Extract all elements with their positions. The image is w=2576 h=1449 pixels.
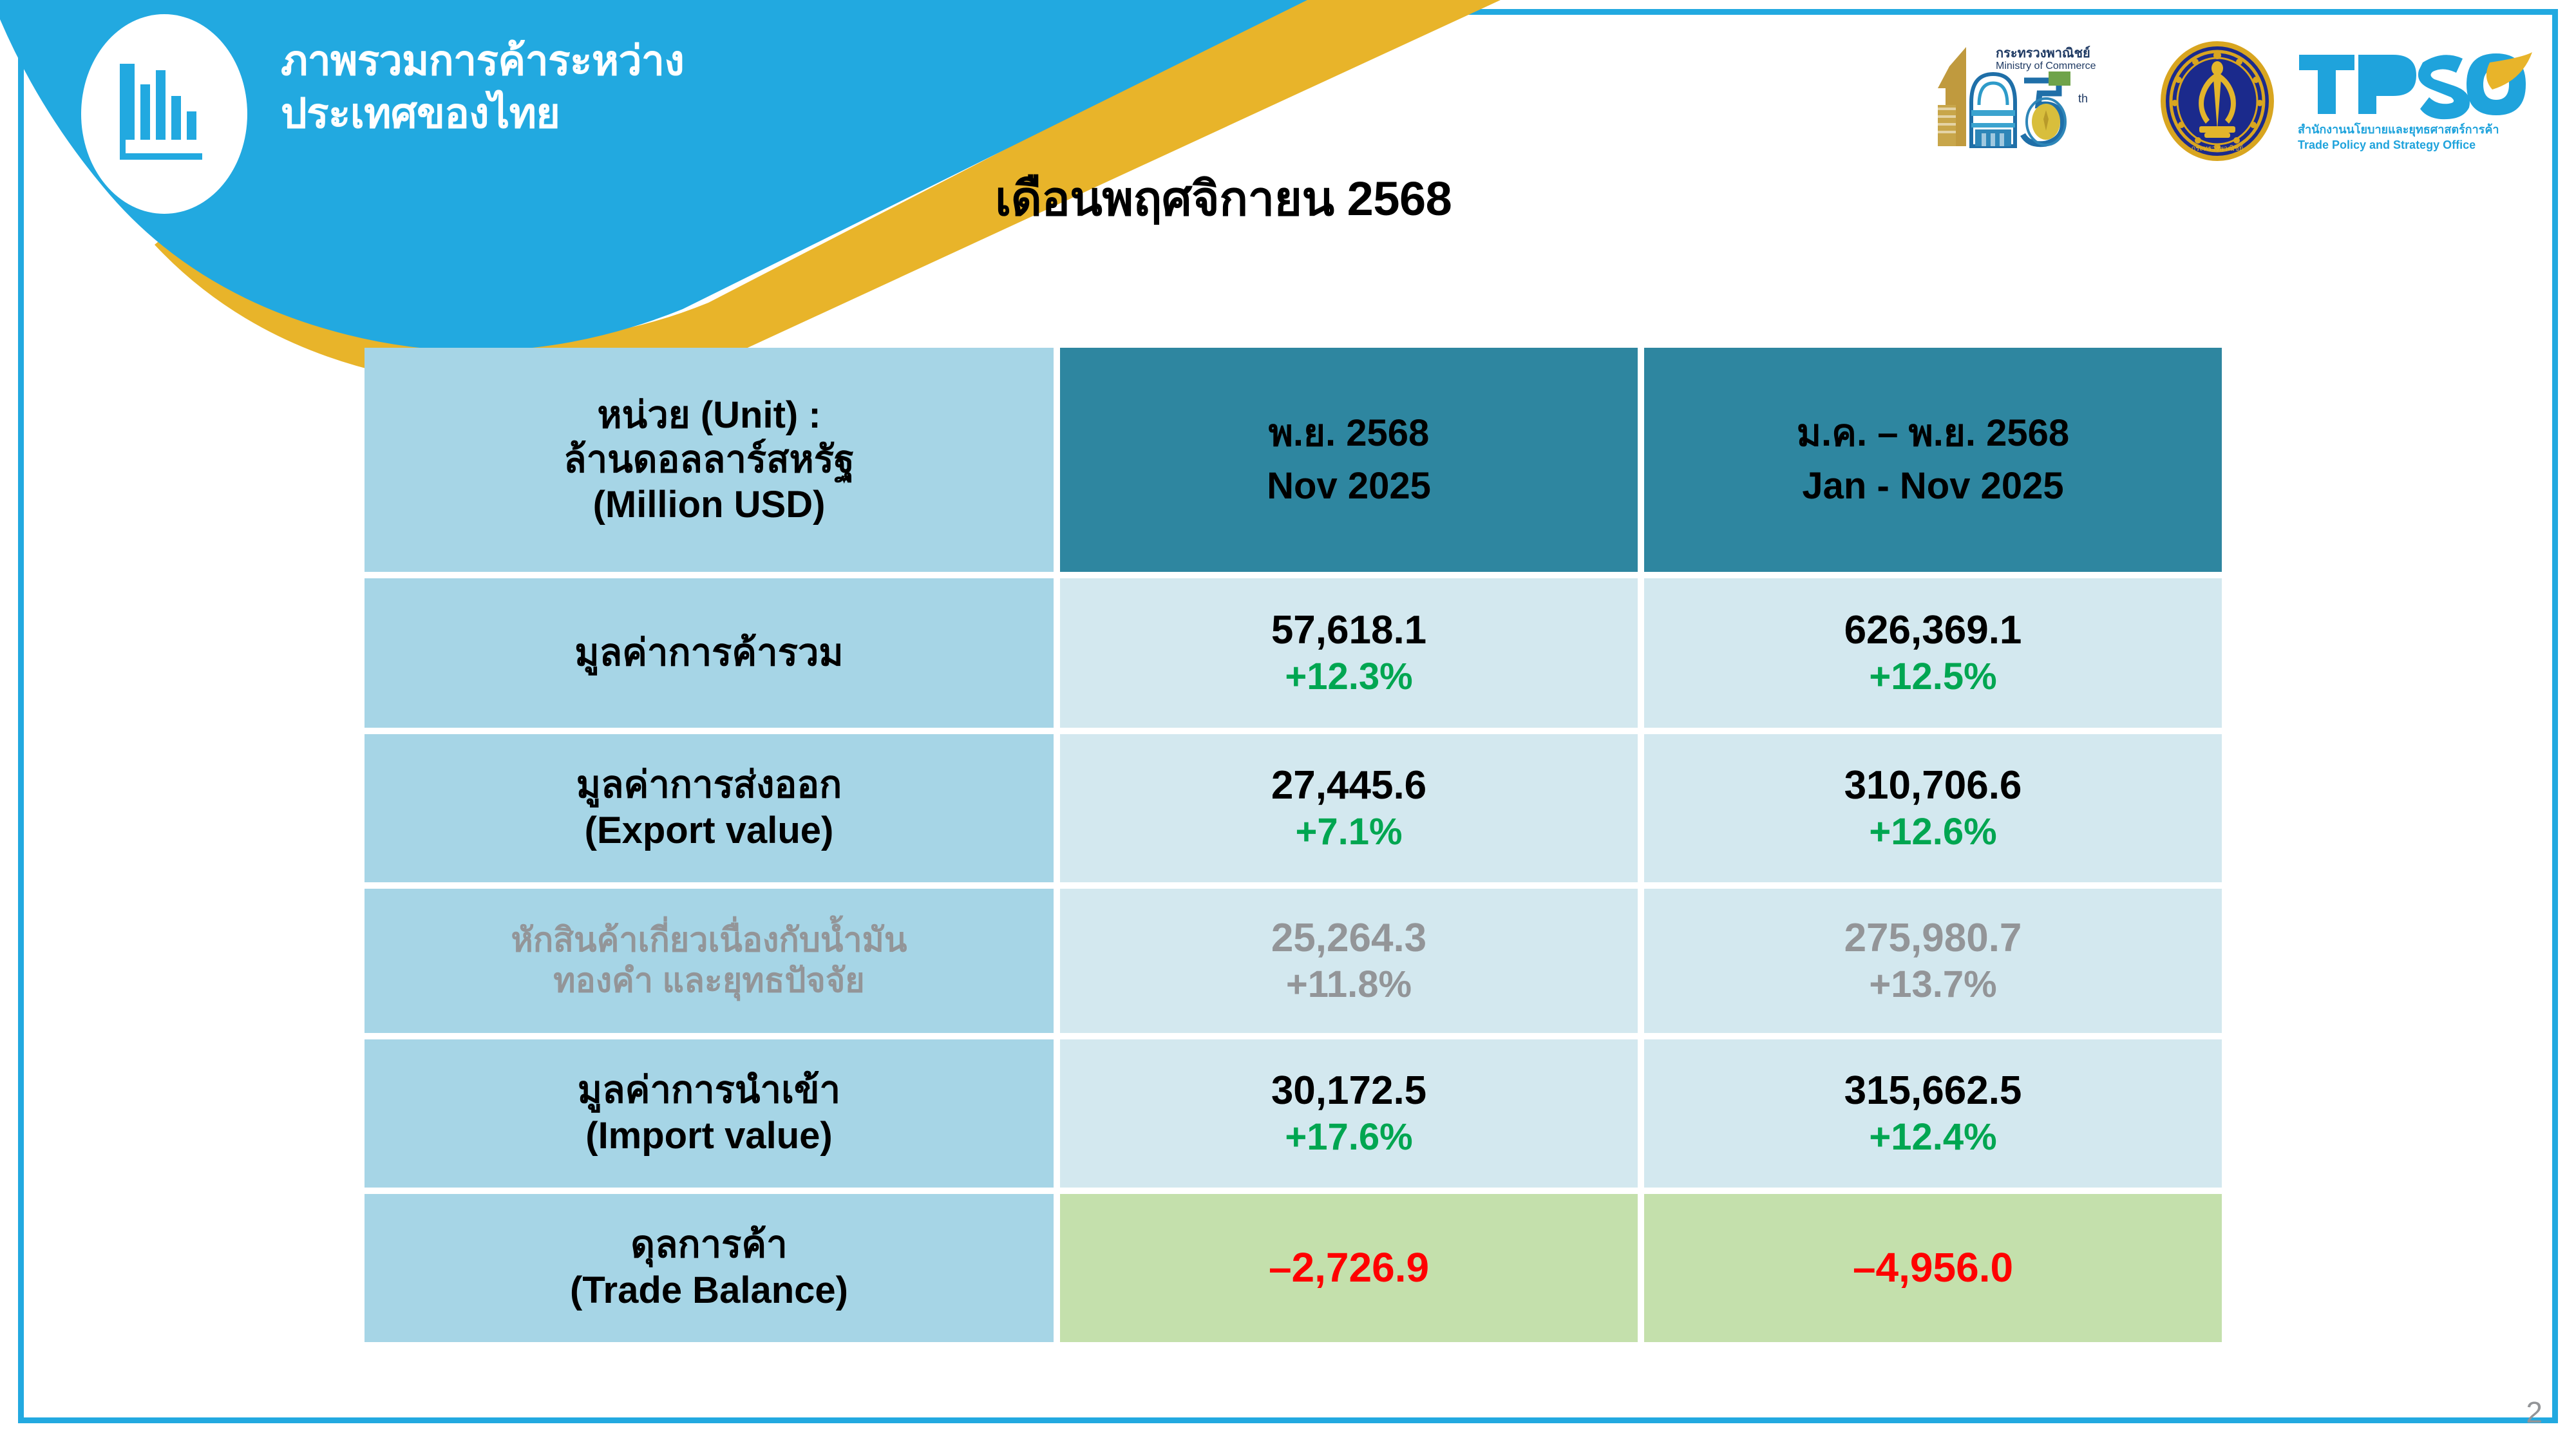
table-header-row: หน่วย (Unit) : ล้านดอลลาร์สหรัฐ (Million…	[365, 348, 2222, 572]
row-label-export-value: มูลค่าการส่งออก (Export value)	[365, 734, 1054, 882]
value-change-pct: +13.7%	[1644, 964, 2222, 1006]
column-header-month: พ.ย. 2568 Nov 2025	[1060, 348, 1638, 572]
column-header-unit: หน่วย (Unit) : ล้านดอลลาร์สหรัฐ (Million…	[365, 348, 1054, 572]
svg-text:สำนักงานนโยบายและยุทธศาสตร์การ: สำนักงานนโยบายและยุทธศาสตร์การค้า	[2298, 122, 2499, 137]
value-amount: 30,172.5	[1060, 1068, 1638, 1113]
organization-logos: th กระทรวงพาณิชย์ Ministry of Commerce	[1926, 40, 2535, 162]
svg-text:Trade Policy and Strategy Offi: Trade Policy and Strategy Office	[2298, 138, 2476, 151]
ministry-of-commerce-105th-logo: th กระทรวงพาณิชย์ Ministry of Commerce	[1926, 43, 2139, 159]
value-amount: 25,264.3	[1060, 916, 1638, 960]
table-row: ดุลการค้า (Trade Balance) –2,726.9 –4,95…	[365, 1194, 2222, 1342]
value-change-pct: +11.8%	[1060, 964, 1638, 1006]
cell-export-ytd: 310,706.6 +12.6%	[1644, 734, 2222, 882]
brand-logo-bubble	[81, 14, 247, 214]
value-change-pct: +7.1%	[1060, 811, 1638, 853]
table-row: มูลค่าการส่งออก (Export value) 27,445.6 …	[365, 734, 2222, 882]
cell-import-ytd: 315,662.5 +12.4%	[1644, 1039, 2222, 1188]
value-amount: –4,956.0	[1644, 1245, 2222, 1291]
value-amount: –2,726.9	[1060, 1245, 1638, 1291]
cell-trade-balance-ytd: –4,956.0	[1644, 1194, 2222, 1342]
cell-excluding-oil-month: 25,264.3 +11.8%	[1060, 889, 1638, 1033]
table-row: มูลค่าการนำเข้า (Import value) 30,172.5 …	[365, 1039, 2222, 1188]
row-label-total-trade: มูลค่าการค้ารวม	[365, 578, 1054, 728]
cell-export-month: 27,445.6 +7.1%	[1060, 734, 1638, 882]
svg-text:Ministry of Commerce: Ministry of Commerce	[1996, 61, 2096, 71]
value-amount: 27,445.6	[1060, 763, 1638, 808]
value-amount: 275,980.7	[1644, 916, 2222, 960]
svg-text:th: th	[2078, 92, 2088, 105]
slide-root: ภาพรวมการค้าระหว่าง ประเทศของไทย เดือนพฤ…	[0, 0, 2576, 1449]
ministry-of-commerce-seal: กระทรวงพาณิชย์	[2158, 40, 2277, 162]
value-change-pct: +12.4%	[1644, 1117, 2222, 1159]
cell-import-month: 30,172.5 +17.6%	[1060, 1039, 1638, 1188]
page-title: เดือนพฤศจิกายน 2568	[995, 173, 1452, 225]
cell-excluding-oil-ytd: 275,980.7 +13.7%	[1644, 889, 2222, 1033]
brand-title: ภาพรวมการค้าระหว่าง ประเทศของไทย	[281, 35, 963, 140]
column-header-ytd: ม.ค. – พ.ย. 2568 Jan - Nov 2025	[1644, 348, 2222, 572]
svg-text:กระทรวงพาณิชย์: กระทรวงพาณิชย์	[1996, 46, 2090, 61]
row-label-trade-balance: ดุลการค้า (Trade Balance)	[365, 1194, 1054, 1342]
row-label-import-value: มูลค่าการนำเข้า (Import value)	[365, 1039, 1054, 1188]
bar-chart-icon	[116, 59, 213, 169]
page-number: 2	[2526, 1395, 2543, 1430]
value-change-pct: +12.5%	[1644, 656, 2222, 698]
value-amount: 626,369.1	[1644, 608, 2222, 652]
cell-total-trade-ytd: 626,369.1 +12.5%	[1644, 578, 2222, 728]
cell-trade-balance-month: –2,726.9	[1060, 1194, 1638, 1342]
value-change-pct: +17.6%	[1060, 1117, 1638, 1159]
svg-text:กระทรวงพาณิชย์: กระทรวงพาณิชย์	[2192, 144, 2244, 153]
value-change-pct: +12.6%	[1644, 811, 2222, 853]
value-amount: 57,618.1	[1060, 608, 1638, 652]
cell-total-trade-month: 57,618.1 +12.3%	[1060, 578, 1638, 728]
value-change-pct: +12.3%	[1060, 656, 1638, 698]
trade-summary-table: หน่วย (Unit) : ล้านดอลลาร์สหรัฐ (Million…	[358, 341, 2228, 1349]
row-label-excluding-oil-gold-armament: หักสินค้าเกี่ยวเนื่องกับน้ำมัน ทองคำ และ…	[365, 889, 1054, 1033]
tpso-logo: สำนักงานนโยบายและยุทธศาสตร์การค้า Trade …	[2297, 43, 2535, 159]
table-row: หักสินค้าเกี่ยวเนื่องกับน้ำมัน ทองคำ และ…	[365, 889, 2222, 1033]
value-amount: 315,662.5	[1644, 1068, 2222, 1113]
value-amount: 310,706.6	[1644, 763, 2222, 808]
table-row: มูลค่าการค้ารวม 57,618.1 +12.3% 626,369.…	[365, 578, 2222, 728]
trade-summary-table-wrapper: หน่วย (Unit) : ล้านดอลลาร์สหรัฐ (Million…	[358, 341, 2215, 1349]
